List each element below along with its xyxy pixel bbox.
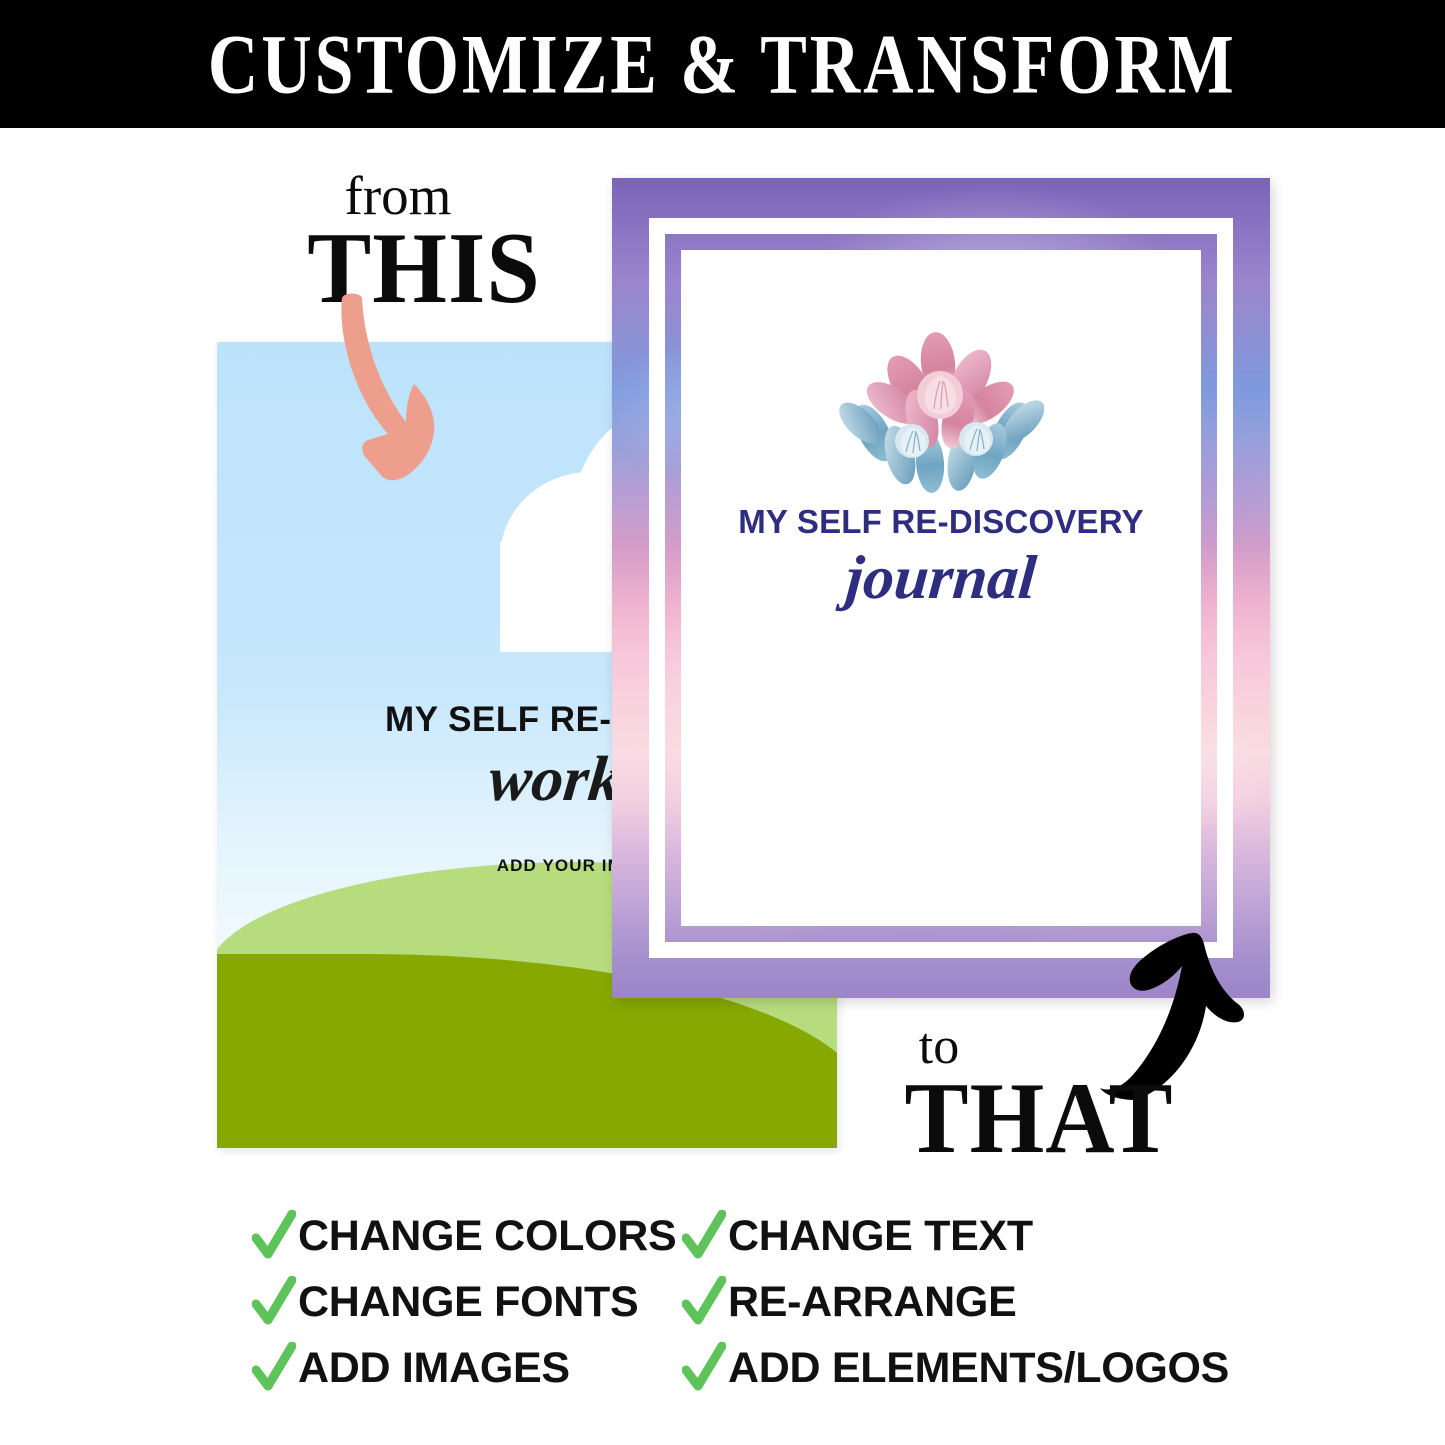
page-title: CUSTOMIZE & TRANSFORM (208, 22, 1237, 107)
check-icon (682, 1210, 726, 1262)
checklist-item-add-elements-logos[interactable]: ADD ELEMENTS/LOGOS (682, 1335, 1212, 1401)
that-word: THAT (874, 1069, 1204, 1169)
to-that-label: to THAT (862, 1022, 1192, 1165)
checklist-item-re-arrange[interactable]: RE-ARRANGE (682, 1269, 1212, 1335)
from-word: from (248, 170, 548, 222)
header-banner: CUSTOMIZE & TRANSFORM (0, 0, 1445, 128)
journal-title-line2: journal (703, 543, 1179, 614)
checklist-label: RE-ARRANGE (728, 1281, 1016, 1324)
check-icon (252, 1342, 296, 1394)
checklist-label: ADD IMAGES (298, 1347, 570, 1390)
checklist-item-change-text[interactable]: CHANGE TEXT (682, 1203, 1212, 1269)
checklist-item-change-colors[interactable]: CHANGE COLORS (252, 1203, 682, 1269)
check-icon (252, 1276, 296, 1328)
magnolia-floral-icon (838, 327, 1044, 497)
checklist-label: ADD ELEMENTS/LOGOS (728, 1347, 1229, 1390)
check-icon (252, 1210, 296, 1262)
checklist-label: CHANGE COLORS (298, 1215, 676, 1258)
journal-inner-panel: MY SELF RE-DISCOVERY journal (706, 275, 1176, 901)
journal-content-block: MY SELF RE-DISCOVERY journal (706, 327, 1176, 614)
checklist-label: CHANGE FONTS (298, 1281, 638, 1324)
check-icon (682, 1276, 726, 1328)
checklist-item-change-fonts[interactable]: CHANGE FONTS (252, 1269, 682, 1335)
journal-title-line1: MY SELF RE-DISCOVERY (706, 503, 1176, 541)
checklist-item-add-images[interactable]: ADD IMAGES (252, 1335, 682, 1401)
check-icon (682, 1342, 726, 1394)
from-this-label: from THIS (262, 170, 562, 313)
feature-checklist: CHANGE COLORS CHANGE TEXT CHANGE FONTS R… (252, 1203, 1212, 1401)
this-word: THIS (274, 220, 574, 317)
journal-cover-after[interactable]: MY SELF RE-DISCOVERY journal (612, 178, 1270, 998)
checklist-label: CHANGE TEXT (728, 1215, 1033, 1258)
